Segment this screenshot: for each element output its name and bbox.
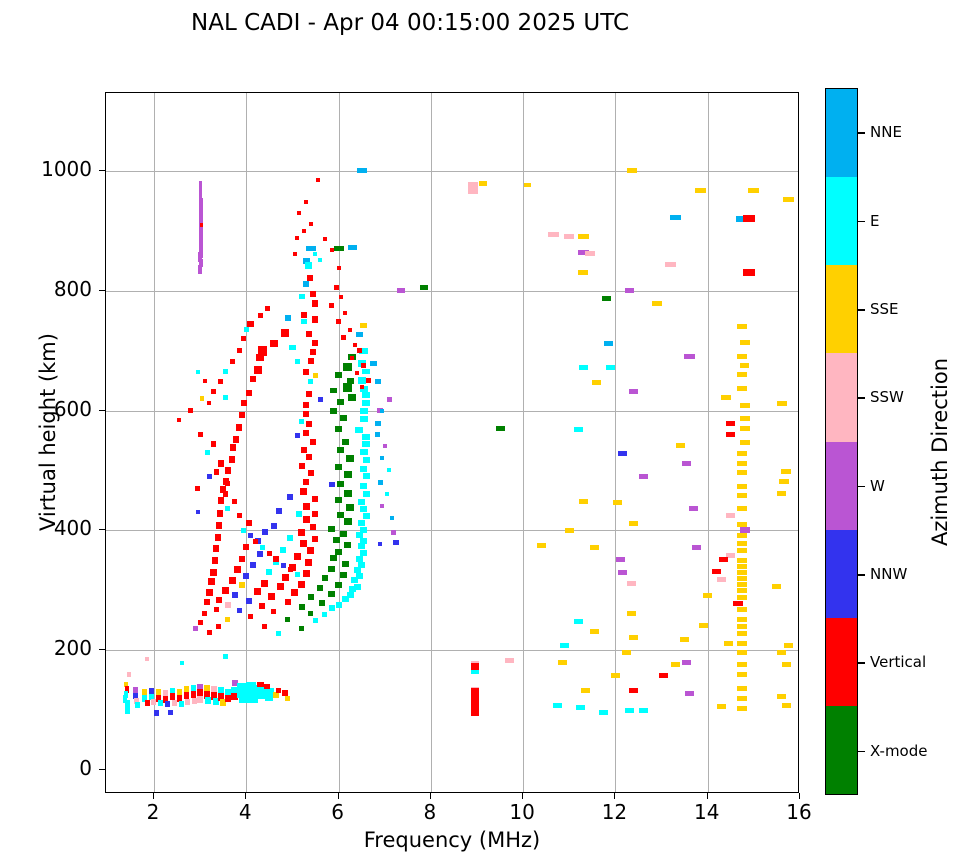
echo-point (180, 661, 184, 665)
echo-point (287, 535, 293, 541)
echo-point (135, 702, 140, 708)
echo-point (689, 506, 698, 511)
echo-point (362, 392, 370, 398)
echo-point (310, 349, 316, 355)
echo-point (576, 705, 585, 710)
echo-point (748, 188, 759, 193)
echo-point (358, 499, 365, 505)
echo-point (308, 611, 313, 616)
echo-point (337, 266, 341, 270)
echo-point (298, 581, 305, 588)
echo-point (305, 559, 312, 566)
echo-point (285, 315, 291, 321)
echo-point (737, 548, 747, 553)
echo-point (553, 703, 562, 708)
echo-point (306, 454, 312, 460)
echo-point (599, 710, 608, 715)
echo-point (337, 447, 344, 453)
echo-point (468, 182, 478, 194)
echo-point (310, 524, 316, 530)
y-tick-label: 0 (22, 756, 92, 780)
echo-point (337, 481, 344, 487)
x-tick (707, 793, 708, 799)
colorbar-label-vertical: Vertical (870, 653, 926, 671)
echo-point (168, 710, 173, 715)
echo-point (737, 461, 747, 466)
echo-point (671, 662, 680, 667)
echo-point (592, 380, 601, 385)
colorbar-band-e[interactable] (826, 177, 857, 265)
echo-point (629, 389, 638, 394)
echo-point (737, 506, 747, 511)
echo-point (387, 468, 391, 472)
colorbar-label-ssw: SSW (870, 388, 904, 406)
echo-point (375, 421, 381, 426)
echo-point (298, 529, 305, 536)
echo-point (308, 379, 313, 384)
echo-point (737, 324, 747, 329)
x-tick-label: 8 (400, 800, 460, 824)
echo-point (703, 593, 712, 598)
echo-point (127, 672, 131, 677)
echo-point (281, 563, 286, 568)
colorbar-tick (858, 132, 865, 134)
echo-point (234, 566, 241, 573)
echo-point (717, 704, 726, 709)
echo-point (357, 348, 362, 353)
echo-point (289, 345, 296, 350)
echo-point (210, 569, 217, 576)
echo-point (737, 533, 747, 538)
x-tick-label: 16 (769, 800, 829, 824)
echo-point (565, 528, 574, 533)
colorbar[interactable] (825, 88, 858, 795)
echo-point (737, 582, 747, 587)
echo-point (358, 520, 365, 526)
echo-point (740, 363, 749, 368)
echo-point (188, 408, 193, 413)
echo-point (772, 584, 781, 589)
echo-point (351, 577, 358, 583)
echo-point (262, 529, 268, 535)
echo-point (239, 556, 245, 562)
plot-area[interactable] (105, 92, 799, 793)
echo-point (574, 619, 583, 624)
echo-point (779, 479, 789, 484)
echo-point (782, 662, 791, 667)
echo-point (177, 418, 181, 422)
echo-point (380, 456, 384, 460)
echo-point (248, 533, 253, 538)
echo-point (257, 682, 264, 687)
x-tick-label: 2 (123, 800, 183, 824)
echo-point (737, 354, 747, 359)
echo-point (355, 427, 363, 433)
echo-point (258, 313, 263, 318)
echo-point (282, 574, 289, 581)
echo-point (724, 641, 733, 646)
scatter-points (106, 93, 798, 792)
echo-point (685, 691, 694, 696)
echo-point (197, 696, 203, 703)
echo-point (341, 335, 346, 340)
x-tick-label: 6 (308, 800, 368, 824)
echo-point (266, 569, 272, 575)
echo-point (783, 197, 794, 202)
echo-point (726, 432, 735, 437)
echo-point (244, 327, 249, 332)
echo-point (680, 637, 689, 642)
colorbar-band-sse[interactable] (826, 265, 857, 353)
echo-point (737, 522, 747, 527)
echo-point (211, 441, 216, 447)
echo-point (360, 416, 368, 422)
echo-point (737, 706, 747, 711)
echo-point (257, 551, 263, 557)
echo-point (629, 635, 638, 640)
echo-point (145, 700, 150, 706)
echo-point (265, 306, 270, 311)
ionogram-figure: NAL CADI - Apr 04 00:15:00 2025 UTC 2468… (0, 0, 972, 865)
echo-point (684, 354, 695, 359)
echo-point (574, 427, 583, 432)
echo-point (239, 582, 245, 588)
echo-point (579, 365, 588, 370)
echo-point (505, 658, 514, 663)
echo-point (277, 583, 284, 590)
colorbar-label-nne: NNE (870, 123, 902, 141)
echo-point (639, 474, 648, 479)
echo-point (223, 491, 228, 497)
echo-point (225, 481, 230, 486)
echo-point (375, 432, 380, 437)
echo-point (230, 444, 236, 451)
echo-point (308, 470, 314, 476)
echo-point (726, 421, 735, 426)
x-axis-title: Frequency (MHz) (105, 828, 799, 852)
echo-point (385, 492, 389, 496)
echo-point (217, 510, 223, 517)
echo-point (737, 541, 747, 546)
echo-point (243, 573, 249, 579)
echo-point (781, 469, 791, 474)
echo-point (740, 416, 750, 421)
echo-point (777, 401, 787, 406)
echo-point (193, 626, 198, 631)
echo-point (225, 602, 231, 608)
y-axis-title: Virtual height (km) (36, 292, 60, 572)
echo-point (323, 237, 327, 241)
echo-point (360, 449, 368, 455)
echo-point (306, 331, 312, 337)
echo-point (293, 252, 297, 256)
echo-point (777, 650, 786, 655)
echo-point (737, 641, 747, 646)
echo-point (316, 178, 320, 182)
echo-point (622, 650, 631, 655)
echo-point (301, 319, 307, 324)
y-tick (99, 410, 105, 411)
echo-point (198, 620, 203, 625)
echo-point (281, 329, 289, 337)
echo-point (721, 395, 731, 400)
echo-point (232, 592, 238, 598)
echo-point (288, 567, 293, 572)
echo-point (618, 570, 627, 575)
echo-point (196, 510, 200, 514)
echo-point (380, 409, 384, 413)
echo-point (306, 421, 312, 427)
echo-point (340, 572, 347, 578)
echo-point (737, 570, 747, 575)
echo-point (154, 710, 159, 716)
echo-point (312, 300, 318, 307)
echo-point (253, 539, 258, 544)
x-tick (245, 793, 246, 799)
echo-point (590, 629, 599, 634)
echo-point (777, 694, 786, 699)
colorbar-label-nnw: NNW (870, 565, 907, 583)
x-tick-label: 14 (677, 800, 737, 824)
echo-point (699, 623, 708, 628)
echo-point (329, 482, 335, 487)
echo-point (214, 469, 219, 475)
echo-point (296, 511, 302, 517)
echo-point (348, 394, 356, 401)
echo-point (237, 608, 242, 613)
echo-point (335, 372, 342, 378)
echo-point (312, 496, 318, 502)
echo-point (383, 444, 387, 448)
echo-point (233, 436, 239, 443)
echo-point (179, 701, 184, 707)
echo-point (346, 455, 354, 462)
echo-point (313, 252, 317, 256)
echo-point (682, 660, 691, 665)
echo-point (295, 433, 300, 438)
echo-point (246, 520, 252, 526)
echo-point (366, 378, 371, 383)
echo-point (717, 577, 726, 582)
colorbar-label-sse: SSE (870, 300, 899, 318)
echo-point (329, 605, 335, 611)
echo-point (268, 593, 275, 600)
x-tick (614, 793, 615, 799)
echo-point (743, 269, 755, 276)
echo-point (471, 670, 479, 674)
echo-point (223, 395, 228, 400)
echo-point (618, 451, 627, 456)
echo-point (237, 513, 242, 518)
echo-point (581, 688, 590, 693)
echo-point (214, 607, 219, 612)
echo-point (304, 200, 308, 204)
echo-point (310, 291, 316, 297)
echo-point (362, 434, 370, 440)
echo-point (737, 662, 747, 667)
echo-point (212, 557, 218, 564)
echo-point (726, 513, 735, 518)
echo-point (276, 508, 282, 514)
echo-point (737, 617, 747, 622)
colorbar-band-w[interactable] (826, 442, 857, 530)
echo-point (343, 311, 347, 315)
colorbar-band-vertical[interactable] (826, 618, 857, 706)
echo-point (737, 493, 747, 498)
colorbar-band-nne[interactable] (826, 89, 857, 177)
echo-point (285, 696, 290, 701)
echo-point (360, 408, 368, 414)
echo-point (344, 471, 352, 478)
echo-point (237, 348, 242, 353)
echo-point (625, 708, 634, 713)
echo-point (207, 630, 212, 635)
echo-point (328, 566, 335, 572)
echo-point (378, 542, 382, 546)
echo-point (276, 688, 281, 693)
echo-point (250, 376, 256, 382)
echo-point (378, 480, 383, 485)
echo-point (207, 474, 212, 479)
echo-point (312, 340, 318, 346)
echo-point (299, 463, 305, 469)
echo-point (198, 265, 202, 274)
echo-point (225, 617, 230, 622)
y-tick (99, 290, 105, 291)
echo-point (348, 245, 357, 250)
echo-point (737, 372, 747, 377)
echo-point (629, 521, 638, 526)
echo-point (267, 551, 272, 556)
echo-point (299, 294, 305, 299)
echo-point (564, 234, 574, 239)
echo-point (330, 248, 334, 252)
echo-point (346, 504, 354, 511)
echo-point (340, 415, 347, 421)
echo-point (312, 511, 318, 517)
echo-point (390, 516, 394, 520)
echo-point (303, 503, 310, 510)
echo-point (302, 229, 306, 233)
echo-point (300, 540, 307, 547)
echo-point (261, 580, 268, 587)
colorbar-band-nnw[interactable] (826, 530, 857, 618)
echo-point (254, 366, 262, 374)
echo-point (248, 614, 253, 619)
echo-point (218, 497, 224, 504)
echo-point (306, 246, 316, 251)
echo-point (579, 499, 588, 504)
echo-point (393, 540, 399, 545)
x-tick (430, 793, 431, 799)
echo-point (358, 543, 365, 549)
echo-point (216, 624, 221, 629)
echo-point (317, 585, 323, 591)
echo-point (195, 486, 200, 491)
echo-point (387, 397, 392, 402)
echo-point (225, 695, 231, 702)
colorbar-band-ssw[interactable] (826, 353, 857, 441)
echo-point (737, 484, 747, 489)
echo-point (537, 543, 546, 548)
echo-point (733, 601, 743, 606)
echo-point (299, 604, 305, 610)
colorbar-band-x-mode[interactable] (826, 706, 857, 794)
echo-point (360, 466, 367, 472)
echo-point (585, 251, 595, 256)
echo-point (213, 545, 219, 552)
echo-point (291, 589, 298, 596)
echo-point (360, 483, 367, 489)
echo-point (285, 617, 290, 622)
echo-point (200, 223, 203, 227)
echo-point (280, 547, 286, 553)
echo-point (309, 222, 313, 226)
echo-point (246, 598, 252, 604)
echo-point (604, 341, 613, 346)
echo-point (363, 513, 370, 519)
echo-point (665, 262, 676, 267)
echo-point (343, 383, 352, 392)
echo-point (782, 703, 791, 708)
colorbar-tick (858, 221, 865, 223)
echo-point (241, 528, 246, 533)
echo-point (625, 288, 634, 293)
echo-point (225, 506, 230, 511)
echo-point (342, 561, 349, 567)
echo-point (202, 611, 207, 616)
echo-point (185, 699, 190, 705)
echo-point (578, 270, 588, 275)
echo-point (348, 328, 352, 332)
echo-point (303, 570, 310, 577)
echo-point (558, 660, 567, 665)
echo-point (125, 707, 130, 714)
y-tick (99, 769, 105, 770)
echo-point (629, 688, 638, 693)
echo-point (627, 581, 636, 586)
echo-point (303, 402, 309, 408)
echo-point (342, 596, 349, 602)
echo-point (627, 168, 637, 173)
echo-point (299, 626, 304, 631)
echo-point (218, 379, 223, 384)
echo-point (218, 460, 224, 467)
echo-point (339, 295, 343, 299)
echo-point (560, 643, 569, 648)
echo-point (241, 336, 246, 341)
echo-point (737, 631, 747, 636)
echo-point (303, 281, 309, 287)
echo-point (322, 575, 328, 581)
echo-point (740, 440, 750, 445)
echo-point (330, 408, 337, 414)
echo-point (375, 379, 381, 384)
y-tick (99, 649, 105, 650)
echo-point (204, 599, 210, 605)
echo-point (208, 578, 215, 585)
echo-point (259, 603, 265, 609)
echo-point (471, 707, 479, 716)
echo-point (360, 385, 364, 389)
echo-point (350, 356, 354, 360)
echo-point (333, 537, 340, 543)
echo-point (363, 457, 370, 463)
echo-point (223, 369, 228, 374)
echo-point (652, 301, 662, 306)
echo-point (276, 631, 281, 636)
echo-point (205, 450, 210, 455)
